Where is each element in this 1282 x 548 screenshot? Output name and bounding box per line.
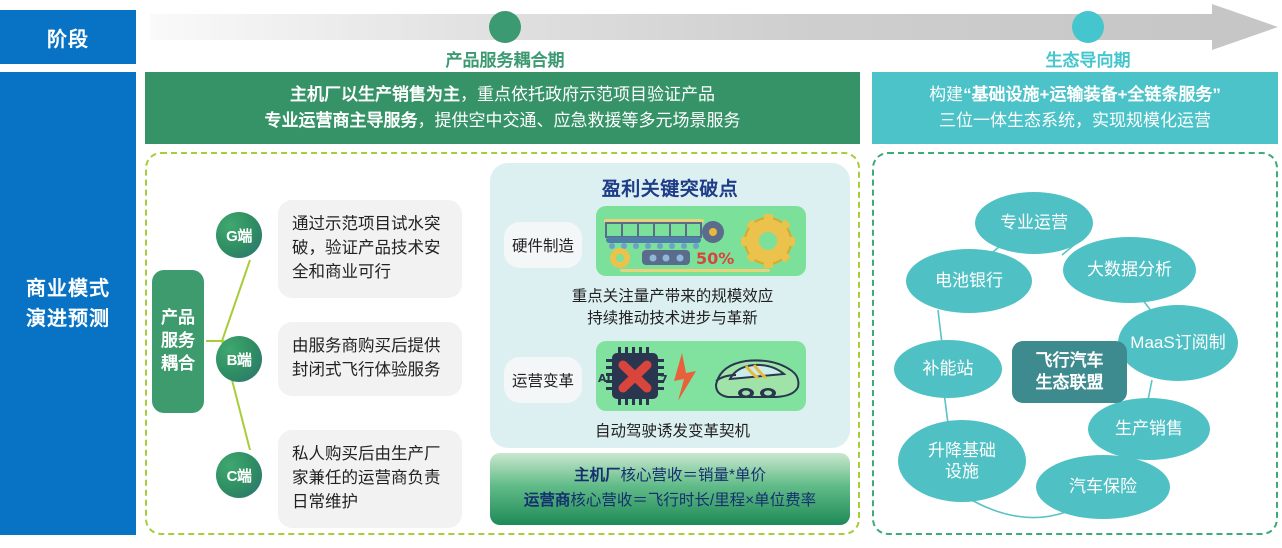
business-model-label-line2: 演进预测	[26, 304, 110, 334]
formula-line2-subject: 运营商	[524, 492, 571, 509]
coupling-line1: 产品	[161, 307, 195, 330]
phase1-banner-line1-bold: 主机厂以生产销售为主	[290, 85, 460, 104]
autonomous-driving-illustration: AI 7	[596, 341, 806, 411]
profit-caption-hardware-line1: 重点关注量产带来的规模效应	[500, 286, 845, 308]
profit-caption-hardware-line2: 持续推动技术进步与革新	[500, 308, 845, 330]
phase2-summary-banner: 构建“基础设施+运输装备+全链条服务” 三位一体生态系统，实现规模化运营	[872, 72, 1278, 144]
phase1-summary-banner: 主机厂以生产销售为主，重点依托政府示范项目验证产品 专业运营商主导服务，提供空中…	[145, 72, 860, 144]
formula-line1-rest: 核心营收＝销量*单价	[620, 467, 766, 484]
phase2-banner-line1-prefix: 构建	[929, 85, 963, 104]
phase1-label: 产品服务耦合期	[446, 46, 565, 71]
phase2-label: 生态导向期	[1046, 46, 1131, 71]
phase2-banner-line1-bold: “基础设施+运输装备+全链条服务”	[963, 85, 1221, 104]
business-model-label-line1: 商业模式	[26, 274, 110, 304]
mass-production-illustration: 50%	[596, 206, 806, 276]
formula-line1: 主机厂核心营收＝销量*单价	[574, 464, 766, 489]
phase-timeline: 产品服务耦合期 生态导向期	[150, 8, 1278, 68]
formula-line2: 运营商核心营收＝飞行时长/里程×单位费率	[524, 489, 816, 514]
formula-line2-rest: 核心营收＝飞行时长/里程×单位费率	[570, 492, 816, 509]
svg-text:7: 7	[660, 373, 668, 386]
business-model-header-block: 商业模式 演进预测	[0, 72, 136, 535]
illustration-50-percent-label: 50%	[696, 249, 734, 268]
phase1-banner-line2-bold: 专业运营商主导服务	[265, 111, 418, 130]
segment-badge-b: B端	[216, 336, 262, 382]
phase1-banner-line2-rest: ，提供空中交通、应急救援等多元场景服务	[418, 111, 741, 130]
phase2-banner-line1: 构建“基础设施+运输装备+全链条服务”	[929, 82, 1221, 108]
ecosystem-bubble-auto-insurance: 汽车保险	[1036, 455, 1170, 519]
phase2-banner-line2: 三位一体生态系统，实现规模化运营	[939, 108, 1211, 134]
timeline-node-phase1-icon	[489, 11, 521, 43]
segment-card-g: 通过示范项目试水突破，验证产品技术安全和商业可行	[278, 200, 462, 298]
ecosystem-bubble-battery-bank: 电池银行	[906, 249, 1032, 313]
segment-badge-c: C端	[216, 452, 262, 498]
ecosystem-bubble-professional-operation: 专业运营	[975, 192, 1093, 254]
core-revenue-formula-box: 主机厂核心营收＝销量*单价 运营商核心营收＝飞行时长/里程×单位费率	[490, 453, 850, 525]
timeline-arrow-bar	[150, 14, 1220, 40]
coupling-line3: 耦合	[161, 353, 195, 376]
ecosystem-bubble-big-data-analysis: 大数据分析	[1063, 237, 1196, 303]
product-service-coupling-box: 产品 服务 耦合	[152, 270, 204, 413]
stage-header-block: 阶段	[0, 10, 136, 64]
profit-caption-hardware: 重点关注量产带来的规模效应 持续推动技术进步与革新	[500, 286, 845, 331]
chip-hardware-manufacturing: 硬件制造	[504, 222, 582, 268]
phase1-banner-line2: 专业运营商主导服务，提供空中交通、应急救援等多元场景服务	[265, 108, 741, 134]
timeline-node-phase2-icon	[1072, 11, 1104, 43]
ecosystem-core-line1: 飞行汽车	[1036, 350, 1104, 372]
timeline-arrow-head-icon	[1212, 4, 1278, 50]
stage-header-label: 阶段	[47, 23, 89, 52]
segment-card-b: 由服务商购买后提供封闭式飞行体验服务	[278, 322, 462, 396]
ecosystem-bubble-vertiport-infrastructure: 升降基础设施	[898, 420, 1026, 502]
formula-line1-subject: 主机厂	[574, 467, 621, 484]
segment-badge-g: G端	[216, 212, 262, 258]
ecosystem-bubble-recharge-station: 补能站	[894, 340, 1002, 398]
ecosystem-bubble-maas-subscription: MaaS订阅制	[1118, 305, 1238, 381]
chip-operation-reform: 运营变革	[504, 357, 582, 403]
profit-breakthrough-title: 盈利关键突破点	[490, 174, 850, 201]
phase1-banner-line1: 主机厂以生产销售为主，重点依托政府示范项目验证产品	[290, 82, 715, 108]
segment-card-c: 私人购买后由生产厂家兼任的运营商负责日常维护	[278, 430, 462, 528]
ecosystem-bubble-production-sales: 生产销售	[1088, 398, 1210, 460]
ecosystem-core-line2: 生态联盟	[1036, 372, 1104, 394]
coupling-line2: 服务	[161, 330, 195, 353]
ecosystem-core-alliance-box: 飞行汽车 生态联盟	[1012, 341, 1127, 403]
phase1-banner-line1-rest: ，重点依托政府示范项目验证产品	[460, 85, 715, 104]
profit-caption-operation: 自动驾驶诱发变革契机	[500, 421, 845, 443]
